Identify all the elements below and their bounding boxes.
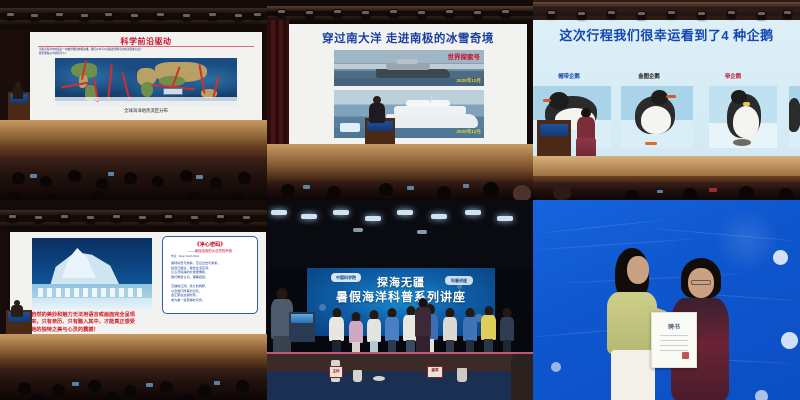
foreground-person-silhouette — [511, 354, 533, 400]
panel-stage-group-photo: 探海无疆 暑假海洋科普系列讲座 中国科学院 科普讲座 — [267, 200, 533, 400]
stage-floor — [533, 156, 800, 178]
poem-author: 作者：Deep South Wind — [171, 255, 199, 259]
ceiling-rig — [0, 200, 267, 230]
placard-text-left: 主持 — [329, 368, 343, 373]
led-badge-right: 科普讲座 — [445, 276, 473, 285]
stage-child — [463, 308, 477, 358]
stage-curtain-left — [267, 20, 289, 160]
map-caption: 全球海洋地热流区分布 — [30, 108, 262, 114]
photo-date-bottom: 2020年12月 — [456, 129, 481, 135]
audience-seating — [267, 180, 533, 200]
ceiling-rig — [533, 0, 800, 20]
eyeglasses — [691, 280, 711, 285]
foreground-table: 主持 嘉宾 — [267, 354, 533, 400]
stage-child — [443, 308, 457, 358]
cup — [353, 370, 362, 382]
projection-screen: 《净心密码》 ——南极给我的大自然的声音 作者：Deep South Wind … — [10, 232, 266, 334]
ship-photo-top: 世界探索号 2020年12月 — [334, 50, 484, 86]
ceiling-rig — [0, 0, 267, 30]
photo-collage: 科学前沿驱动 当前对海洋中的最后一块被忽略的神秘边疆，我们从中可以挖掘出哪些有用… — [0, 0, 800, 400]
podium — [537, 120, 571, 156]
stage-child — [329, 308, 344, 358]
stage-host-center — [415, 298, 431, 360]
iceberg-photo — [32, 238, 152, 310]
certificate: 聘书 — [651, 312, 697, 368]
ship-name-label: 世界探索号 — [448, 51, 481, 61]
placard-text-right: 嘉宾 — [427, 368, 443, 373]
stage-floor — [0, 334, 267, 360]
stage-child — [481, 306, 496, 358]
led-badge-left: 中国科学院 — [331, 273, 361, 282]
world-seafloor-map — [55, 58, 237, 106]
poem-textbox: 《净心密码》 ——南极给我的大自然的声音 作者：Deep South Wind … — [162, 236, 258, 314]
decorative-bubble — [551, 362, 561, 372]
slide-title: 这次行程我们很幸运看到了4 种企鹅 — [533, 25, 800, 44]
presenter-skirt — [611, 350, 655, 400]
stage-floor — [0, 120, 267, 148]
audience-seating — [533, 182, 800, 200]
panel-lecture-hall-iceberg-slide: 《净心密码》 ——南极给我的大自然的声音 作者：Deep South Wind … — [0, 200, 267, 400]
podium — [289, 312, 315, 342]
audience-seating — [0, 158, 267, 200]
speaker-silhouette — [367, 96, 387, 124]
panel-lecture-hall-world-map-slide: 科学前沿驱动 当前对海洋中的最后一块被忽略的神秘边疆，我们从中可以挖掘出哪些有用… — [0, 0, 267, 200]
slide-quote: 大自然的美妙和魅力无法用语言或画面完全呈现 出来，只有亲历、只有融入其中，才能真… — [26, 312, 166, 334]
decorative-bubble — [773, 250, 788, 265]
certificate-heading: 聘书 — [652, 322, 696, 331]
certificate-seal — [682, 352, 689, 359]
penguin-label-1: 帽带企鹅 — [541, 72, 597, 80]
decorative-bubble — [781, 332, 798, 349]
ceiling-lighting-rig — [267, 200, 533, 270]
stage-floor — [267, 144, 533, 174]
speaker-silhouette — [12, 82, 24, 98]
poem-text: 保持好奇与热情，忘记过去与未来， 给自己留白，留给生活空间， 让心灵纯净的大地里… — [171, 261, 251, 303]
stage-child — [500, 308, 514, 358]
penguin-photo-4-cropped — [789, 86, 800, 148]
panel-certificate-award-photo: 聘书 — [533, 200, 800, 400]
projection-screen: 科学前沿驱动 当前对海洋中的最后一块被忽略的神秘边疆，我们从中可以挖掘出哪些有用… — [30, 32, 262, 120]
projection-screen: 穿过南大洋 走进南极的冰雪奇境 世界探索号 2020年12月 — [289, 24, 527, 144]
slide-title: 穿过南大洋 走进南极的冰雪奇境 — [289, 30, 527, 46]
ceiling-rig — [267, 0, 533, 24]
penguin-photo-3 — [709, 86, 777, 148]
title-rule — [38, 46, 254, 47]
stage-child — [367, 310, 381, 358]
penguin-label-2: 金图企鹅 — [621, 72, 677, 80]
poem-title: 《净心密码》 — [163, 241, 257, 248]
slide-body-text: 当前对海洋中的最后一块被忽略的神秘边疆，我们从中可以挖掘出哪些有用的资源和信息？… — [39, 48, 253, 55]
poem-subtitle: ——南极给我的大自然的声音 — [163, 248, 257, 253]
decorative-bubble — [755, 390, 768, 400]
panel-lecture-hall-penguin-slide: 这次行程我们很幸运看到了4 种企鹅 帽带企鹅 金图企鹅 帝企鹅 — [533, 0, 800, 200]
saucer — [373, 376, 385, 381]
penguin-photo-2 — [621, 86, 693, 148]
speaker-silhouette — [10, 300, 24, 316]
ship-photo-bottom: 2020年12月 — [334, 90, 484, 138]
photo-date-top: 2020年12月 — [456, 78, 481, 84]
led-title-line2: 暑假海洋科普系列讲座 — [307, 288, 495, 305]
penguin-label-3: 帝企鹅 — [709, 72, 757, 80]
cup — [457, 368, 467, 382]
panel-lecture-hall-ship-slide: 穿过南大洋 走进南极的冰雪奇境 世界探索号 2020年12月 — [267, 0, 533, 200]
audience-seating — [0, 368, 267, 400]
stage-child — [385, 308, 399, 358]
